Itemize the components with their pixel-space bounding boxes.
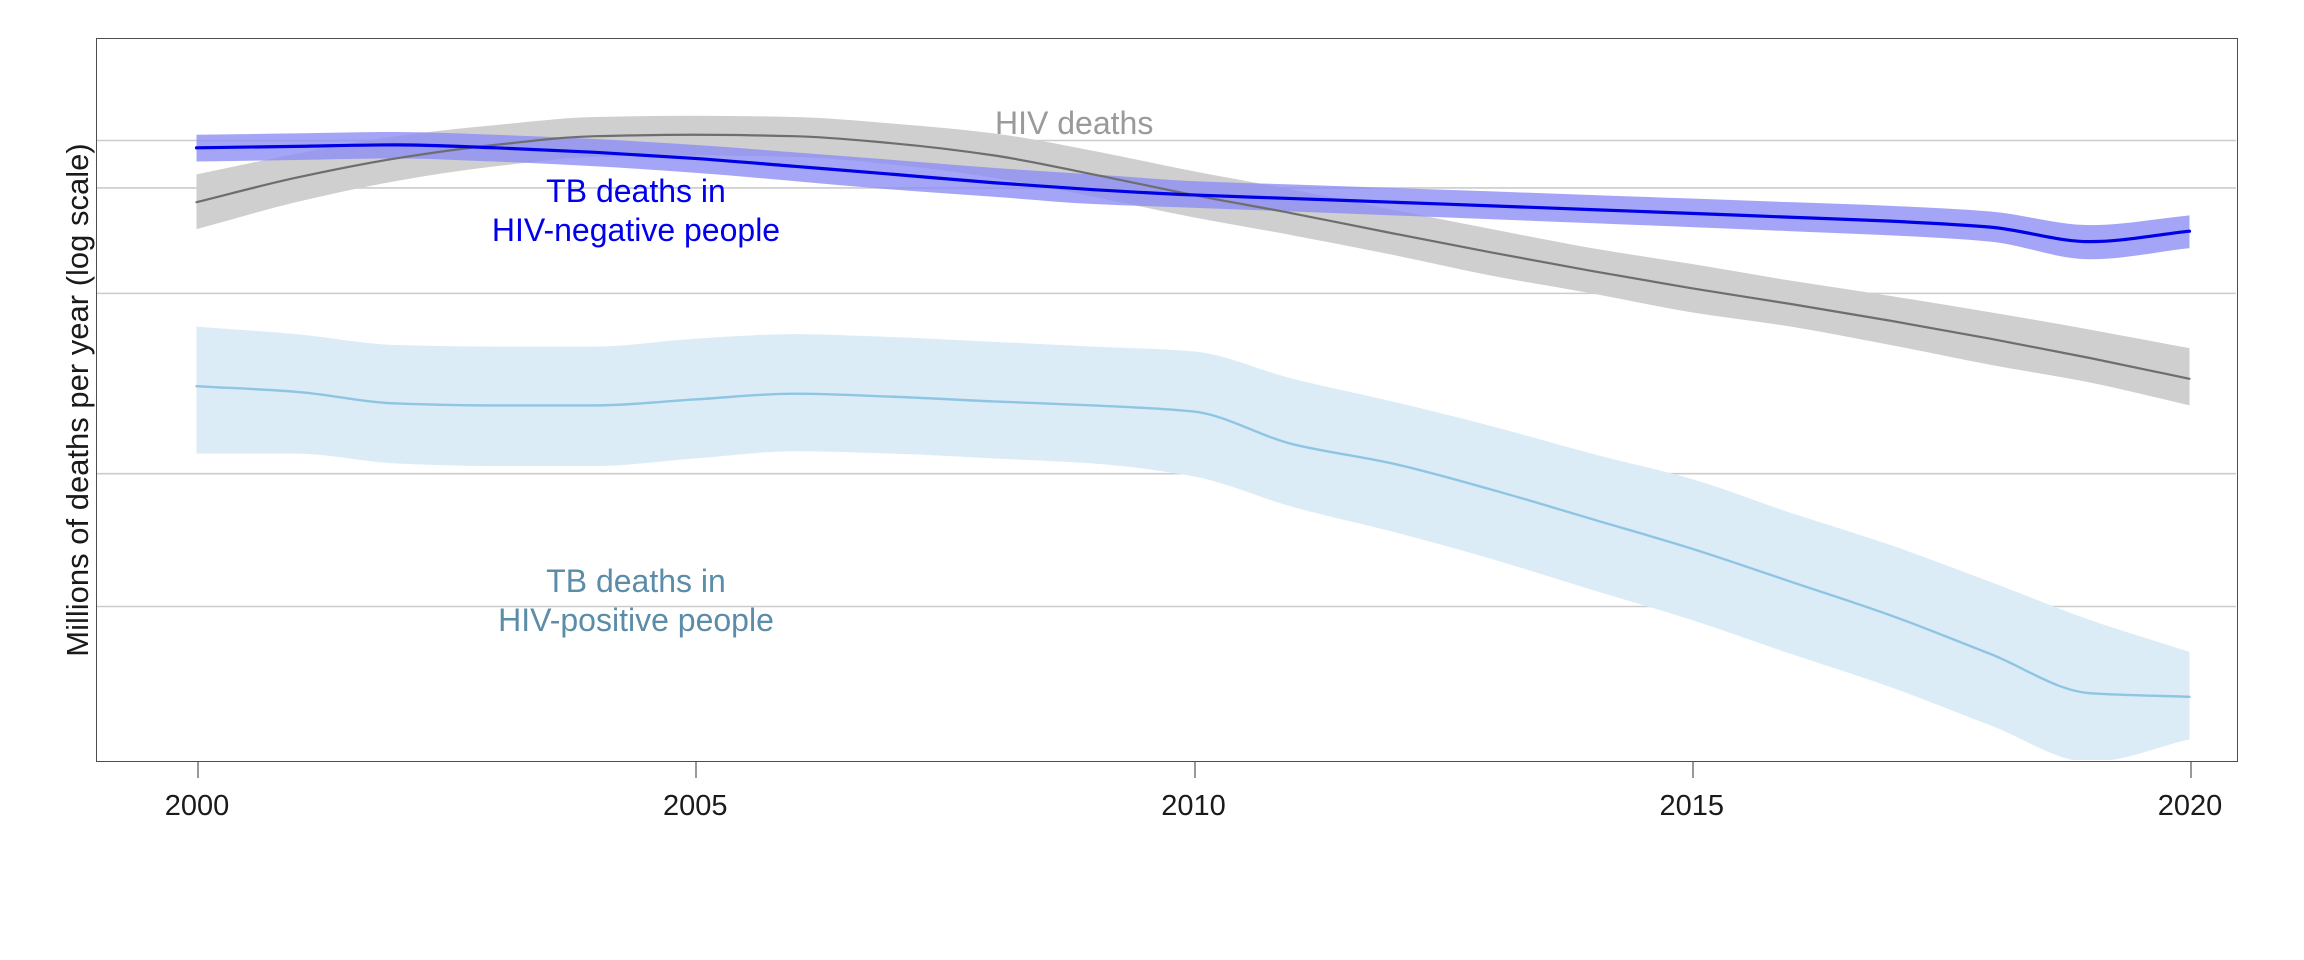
x-tick-mark [2190, 762, 2192, 778]
annotation-tb-hiv-negative: TB deaths in HIV-negative people [456, 172, 816, 250]
annotation-tb-hiv-positive-line1: TB deaths in [456, 562, 816, 601]
x-tick-label: 2010 [1114, 790, 1274, 823]
x-tick-mark [197, 762, 199, 778]
x-tick-mark [1194, 762, 1196, 778]
chart-svg [97, 39, 2236, 760]
x-tick-label: 2000 [117, 790, 277, 823]
annotation-tb-hiv-positive: TB deaths in HIV-positive people [456, 562, 816, 640]
annotation-tb-hiv-negative-line2: HIV-negative people [456, 211, 816, 250]
x-tick-label: 2015 [1612, 790, 1772, 823]
chart-canvas: Millions of deaths per year (log scale) … [0, 0, 2304, 960]
annotation-hiv-deaths: HIV deaths [995, 105, 1153, 142]
confidence-band [197, 327, 2190, 760]
x-tick-label: 2005 [615, 790, 775, 823]
x-tick-label: 2020 [2110, 790, 2270, 823]
annotation-tb-hiv-positive-line2: HIV-positive people [456, 601, 816, 640]
plot-area [96, 38, 2238, 762]
x-tick-mark [1692, 762, 1694, 778]
x-tick-mark [695, 762, 697, 778]
annotation-tb-hiv-negative-line1: TB deaths in [456, 172, 816, 211]
